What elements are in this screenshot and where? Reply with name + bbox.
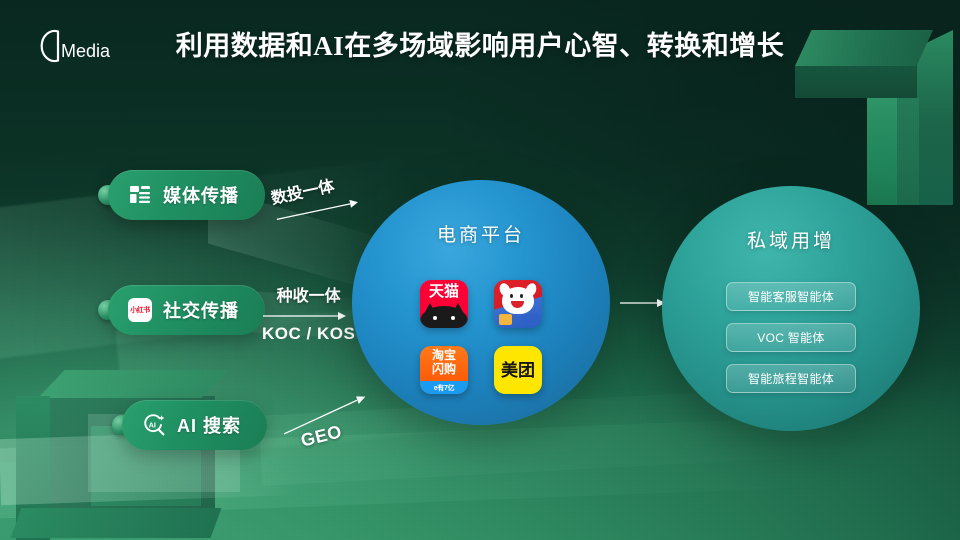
connector-sublabel: KOC / KOS bbox=[262, 324, 355, 344]
channel-label: 媒体传播 bbox=[163, 182, 239, 208]
arrow-right-icon bbox=[262, 310, 348, 322]
channel-item-ai-search[interactable]: AI AI 搜索 bbox=[112, 400, 267, 450]
tmall-icon-label: 天猫 bbox=[420, 284, 468, 299]
private-domain-title: 私域用增 bbox=[662, 226, 920, 253]
channel-label: AI 搜索 bbox=[177, 412, 241, 438]
channel-pill-media[interactable]: 媒体传播 bbox=[108, 170, 265, 220]
agent-chip[interactable]: VOC 智能体 bbox=[726, 323, 856, 352]
channel-item-media[interactable]: 媒体传播 bbox=[98, 170, 265, 220]
tmall-icon[interactable]: 天猫 bbox=[420, 280, 468, 328]
svg-text:AI: AI bbox=[149, 420, 156, 429]
taobao-shangou-icon-sub: e有7亿 bbox=[434, 383, 455, 393]
meituan-icon[interactable]: 美团 bbox=[494, 346, 542, 394]
private-domain-sphere[interactable]: 私域用增 智能客服智能体 VOC 智能体 智能旅程智能体 bbox=[662, 186, 920, 431]
connector-label: 种收一体 bbox=[262, 282, 355, 306]
layout-grid-icon bbox=[128, 183, 152, 207]
flow-arrow-icon bbox=[619, 296, 667, 310]
xiaohongshu-icon: 小红书 bbox=[128, 298, 152, 322]
channel-item-social[interactable]: 小红书 社交传播 bbox=[98, 285, 265, 335]
connector-social: 种收一体 KOC / KOS bbox=[262, 282, 355, 344]
taobao-shangou-icon[interactable]: 淘宝 闪购 e有7亿 bbox=[420, 346, 468, 394]
ecommerce-sphere[interactable]: 电商平台 天猫 淘宝 闪购 e有7亿 美团 bbox=[352, 180, 610, 425]
meituan-icon-label: 美团 bbox=[501, 362, 535, 379]
ai-search-icon: AI bbox=[142, 413, 166, 437]
channel-pill-ai-search[interactable]: AI AI 搜索 bbox=[122, 400, 267, 450]
agent-chip[interactable]: 智能旅程智能体 bbox=[726, 364, 856, 393]
ecommerce-app-grid: 天猫 淘宝 闪购 e有7亿 美团 bbox=[420, 280, 542, 394]
channel-label: 社交传播 bbox=[163, 297, 239, 323]
xiaohongshu-icon-label: 小红书 bbox=[130, 307, 150, 314]
ecommerce-title: 电商平台 bbox=[352, 220, 610, 247]
slide-canvas: Media 利用数据和AI在多场域影响用户心智、转换和增长 媒体传播 小红书 bbox=[0, 0, 960, 540]
private-domain-chip-list: 智能客服智能体 VOC 智能体 智能旅程智能体 bbox=[726, 282, 856, 393]
agent-chip[interactable]: 智能客服智能体 bbox=[726, 282, 856, 311]
jd-icon[interactable] bbox=[494, 280, 542, 328]
page-title: 利用数据和AI在多场域影响用户心智、转换和增长 bbox=[0, 24, 960, 63]
channel-pill-social[interactable]: 小红书 社交传播 bbox=[108, 285, 265, 335]
